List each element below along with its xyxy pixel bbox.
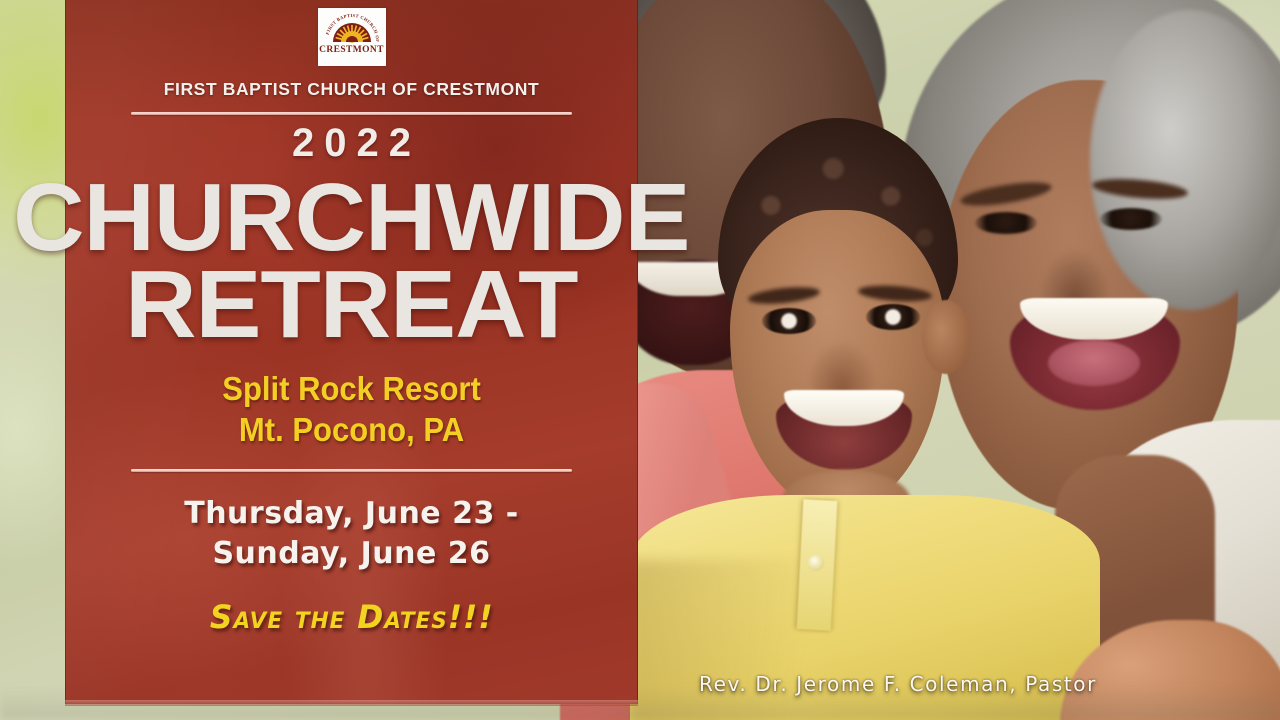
- poster-content: FIRST BAPTIST CHURCH OF: [65, 0, 638, 704]
- event-title-line-1: CHURCHWIDE: [13, 178, 689, 259]
- event-date-start: Thursday, June 23 -: [184, 494, 519, 534]
- event-dates: Thursday, June 23 - Sunday, June 26: [184, 494, 519, 574]
- grandmother-eye-left: [975, 212, 1037, 234]
- event-date-end: Sunday, June 26: [184, 534, 519, 574]
- pastor-credit: Rev. Dr. Jerome F. Coleman, Pastor: [648, 672, 1148, 696]
- boy-eye-left: [762, 308, 816, 334]
- boy-shirt-button: [808, 555, 824, 571]
- organization-name: FIRST BAPTIST CHURCH OF CRESTMONT: [164, 79, 540, 100]
- event-title: CHURCHWIDE RETREAT: [23, 164, 680, 345]
- save-the-dates-callout: Save the Dates!!!: [210, 598, 494, 636]
- crestmont-sunburst-icon: FIRST BAPTIST CHURCH OF: [323, 11, 381, 45]
- crestmont-church-logo: FIRST BAPTIST CHURCH OF: [318, 8, 386, 66]
- retreat-promo-poster: FIRST BAPTIST CHURCH OF: [0, 0, 1280, 720]
- boy-eye-right: [866, 304, 920, 330]
- divider-bottom: [131, 469, 572, 472]
- crestmont-logo-wordmark: CRESTMONT: [319, 46, 384, 56]
- venue-name: Split Rock Resort: [222, 369, 481, 409]
- event-year: 2022: [282, 122, 421, 164]
- grandmother-hair-side: [1090, 10, 1280, 310]
- venue-location: Mt. Pocono, PA: [222, 410, 481, 450]
- event-title-line-2: RETREAT: [13, 265, 689, 346]
- event-venue: Split Rock Resort Mt. Pocono, PA: [222, 369, 481, 450]
- divider-top: [131, 112, 572, 115]
- grandmother-eye-right: [1100, 208, 1162, 230]
- boy-ear: [922, 300, 970, 374]
- grandmother-tongue: [1048, 340, 1140, 386]
